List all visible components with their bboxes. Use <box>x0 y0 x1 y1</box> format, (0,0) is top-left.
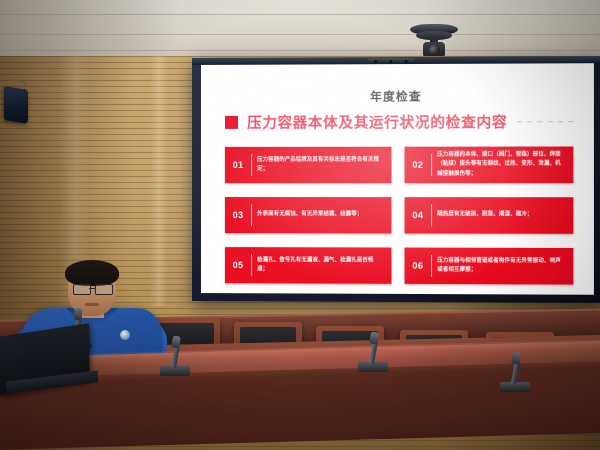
checklist-item: 02 压力容器的本体、接口（阀门、管路）部位、焊接（粘接）接头等有无裂纹、过热、… <box>405 147 574 184</box>
item-text: 压力容器的本体、接口（阀门、管路）部位、焊接（粘接）接头等有无裂纹、过热、变形、… <box>437 150 568 179</box>
item-text: 压力容器的产品铭牌及其有关标志是否符合有关规定； <box>257 155 386 174</box>
wall-speaker-icon <box>4 86 28 124</box>
checklist-item: 05 检漏孔、信号孔有无漏液、漏气、检漏孔是否畅通； <box>225 247 391 284</box>
red-square-icon <box>225 116 238 129</box>
item-divider <box>431 204 432 226</box>
microphone-icon <box>358 332 390 372</box>
glasses-bridge <box>89 288 95 289</box>
checklist-item: 01 压力容器的产品铭牌及其有关标志是否符合有关规定； <box>225 147 391 183</box>
checklist-item: 04 隔热层有无破损、脱落、潮湿、跑冷； <box>405 197 574 234</box>
soundbar-dot <box>389 60 392 63</box>
wall-display[interactable]: 年度检查 压力容器本体及其运行状况的检查内容 01 压力容器的产品铭牌及其有关标… <box>192 56 600 303</box>
checklist-item: 06 压力容器与相邻管道或者构件有无异常振动、响声或者相互摩擦； <box>405 248 574 285</box>
mouth <box>85 303 99 306</box>
display-soundbar <box>368 58 415 63</box>
uniform-badge-icon <box>120 330 130 340</box>
checklist-grid: 01 压力容器的产品铭牌及其有关标志是否符合有关规定； 02 压力容器的本体、接… <box>225 147 573 285</box>
microphone-icon <box>500 348 534 392</box>
camera-lens-icon <box>429 45 440 56</box>
glasses-icon <box>95 284 113 295</box>
soundbar-dot <box>405 60 408 63</box>
item-text: 外表面有无腐蚀、有无异常结霜、结露等； <box>257 210 386 220</box>
slide-subtitle: 压力容器本体及其运行状况的检查内容 <box>247 111 507 133</box>
item-number: 05 <box>225 260 251 270</box>
ceiling-seam <box>0 14 600 15</box>
item-divider <box>431 154 432 176</box>
item-divider <box>251 154 252 176</box>
presentation-slide: 年度检查 压力容器本体及其运行状况的检查内容 01 压力容器的产品铭牌及其有关标… <box>201 63 594 295</box>
slide-subtitle-row: 压力容器本体及其运行状况的检查内容 <box>225 111 577 133</box>
ptz-camera-icon <box>408 24 460 60</box>
glasses-icon <box>73 284 91 295</box>
item-divider <box>251 204 252 226</box>
item-divider <box>431 255 432 277</box>
conference-room-scene: 年度检查 压力容器本体及其运行状况的检查内容 01 压力容器的产品铭牌及其有关标… <box>0 0 600 450</box>
dashed-rule <box>517 121 578 122</box>
checklist-item: 03 外表面有无腐蚀、有无异常结霜、结露等； <box>225 197 391 233</box>
item-number: 06 <box>405 261 431 271</box>
item-number: 03 <box>225 210 251 220</box>
ceiling-seam <box>0 34 600 35</box>
item-text: 压力容器与相邻管道或者构件有无异常振动、响声或者相互摩擦； <box>437 256 568 276</box>
soundbar-dot <box>374 60 377 63</box>
item-number: 02 <box>405 160 431 170</box>
item-number: 01 <box>225 160 251 170</box>
ceiling-seam <box>0 50 600 51</box>
item-text: 检漏孔、信号孔有无漏液、漏气、检漏孔是否畅通； <box>257 256 386 275</box>
slide-title: 年度检查 <box>201 88 594 105</box>
item-number: 04 <box>405 210 431 220</box>
microphone-icon <box>160 336 192 376</box>
item-divider <box>251 254 252 276</box>
hair <box>65 260 119 286</box>
item-text: 隔热层有无破损、脱落、潮湿、跑冷； <box>437 211 568 221</box>
